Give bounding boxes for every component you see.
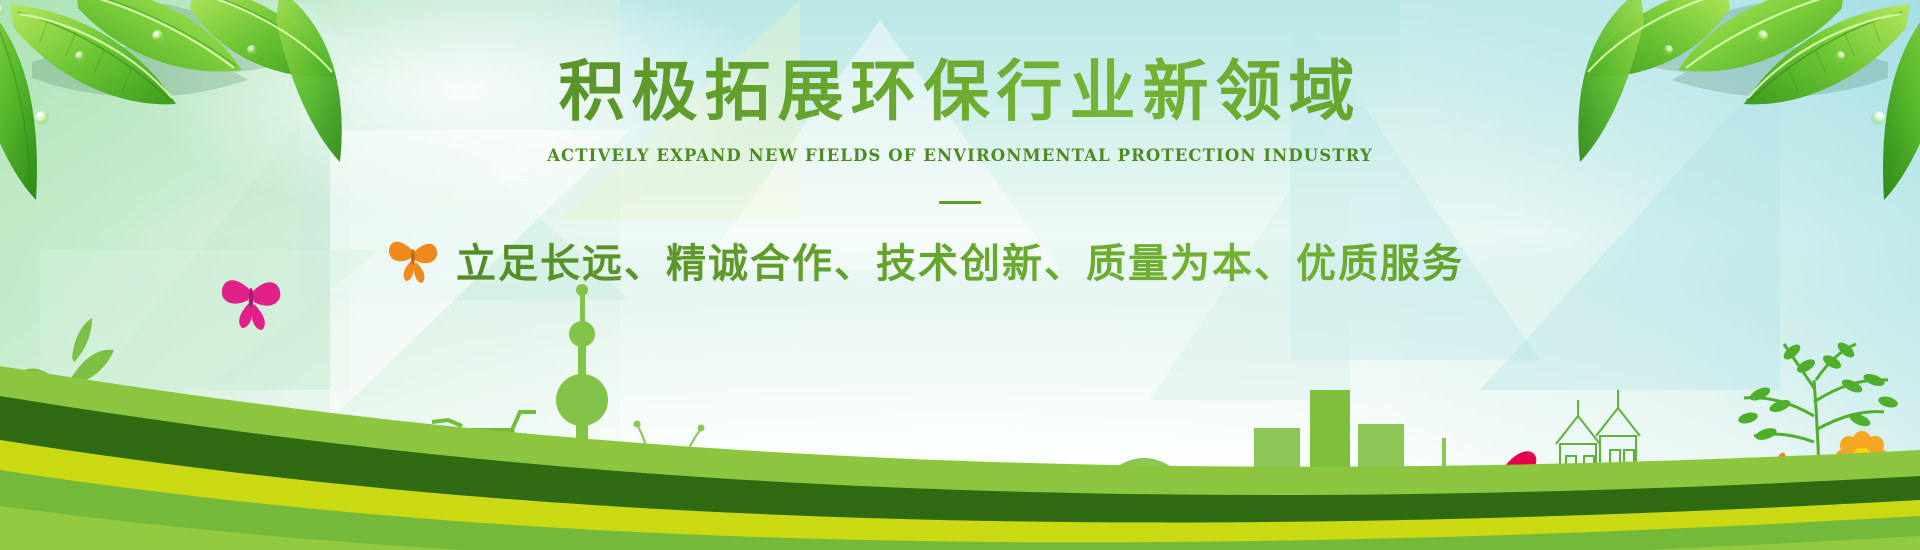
- banner-text-block: 积极拓展环保行业新领域 ACTIVELY EXPAND NEW FIELDS O…: [0, 0, 1920, 286]
- banner-subtitle: ACTIVELY EXPAND NEW FIELDS OF ENVIRONMEN…: [0, 146, 1920, 165]
- eco-banner: 积极拓展环保行业新领域 ACTIVELY EXPAND NEW FIELDS O…: [0, 0, 1920, 550]
- butterfly-icon: [222, 280, 280, 330]
- banner-slogan: 立足长远、精诚合作、技术创新、质量为本、优质服务: [0, 242, 1920, 286]
- banner-title: 积极拓展环保行业新领域: [0, 0, 1920, 124]
- title-divider: [939, 201, 981, 204]
- wave-ribbons: [0, 330, 1920, 550]
